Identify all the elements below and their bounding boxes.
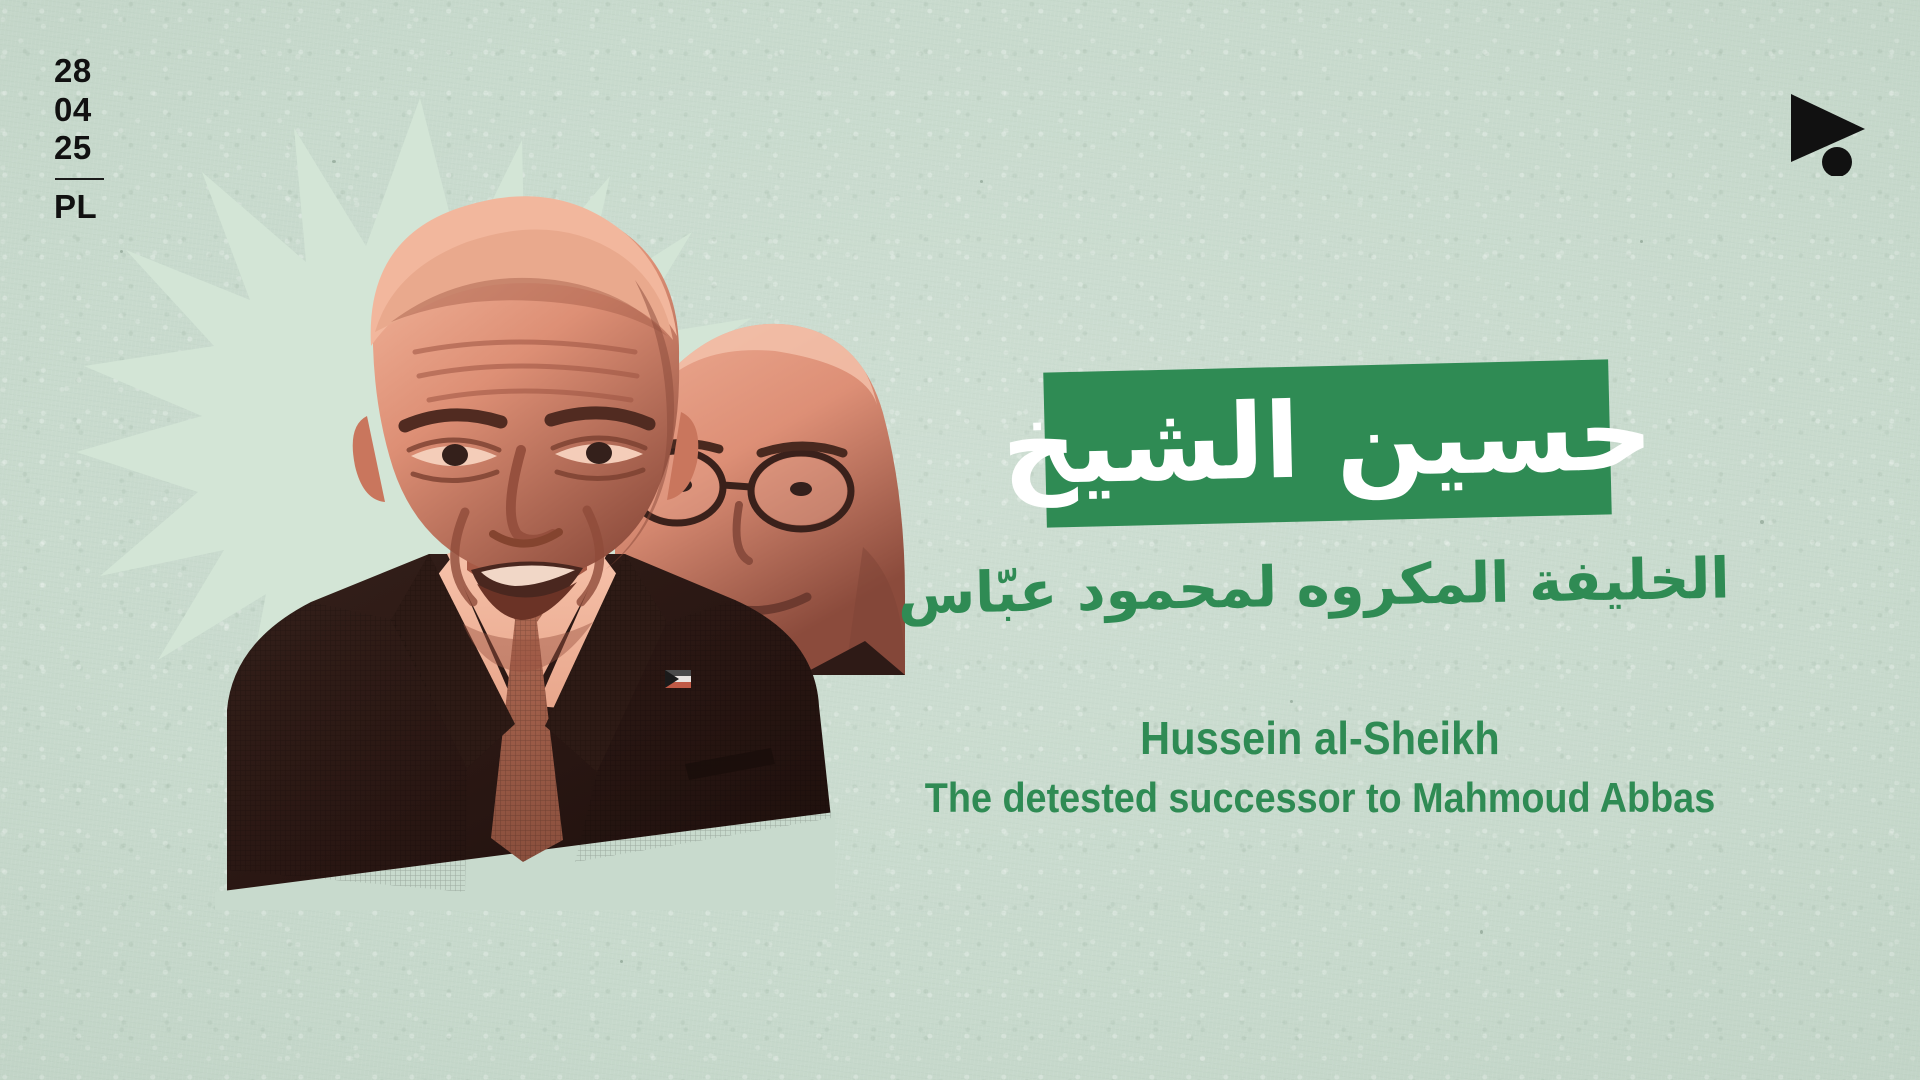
paper-speck <box>980 180 983 183</box>
date-year: 25 <box>54 129 104 168</box>
english-text-block: Hussein al-Sheikh The detested successor… <box>880 714 1760 821</box>
locale-code: PL <box>54 188 104 227</box>
date-month: 04 <box>54 91 104 130</box>
english-name: Hussein al-Sheikh <box>924 714 1716 764</box>
headline-banner: حسين الشيخ <box>1043 359 1611 527</box>
paper-speck <box>620 960 623 963</box>
date-divider <box>55 178 104 181</box>
portrait-group <box>215 150 935 910</box>
paper-speck <box>1290 700 1293 703</box>
paper-speck <box>1640 240 1643 243</box>
poster-canvas: 28 04 25 PL حسين الشيخ الخليفة المكروه ل… <box>0 0 1920 1080</box>
paper-speck <box>1480 930 1483 934</box>
triangle-dot-logo-icon[interactable] <box>1785 86 1881 176</box>
date-stack: 28 04 25 PL <box>54 52 104 227</box>
paper-speck <box>1760 520 1764 524</box>
date-day: 28 <box>54 52 104 91</box>
headline-arabic-title: حسين الشيخ <box>1001 380 1654 499</box>
hussein-al-sheikh-portrait <box>215 150 835 910</box>
english-subtitle: The detested successor to Mahmoud Abbas <box>924 774 1716 821</box>
headline-arabic-subtitle: الخليفة المكروه لمحمود عبّاس <box>939 544 1731 669</box>
